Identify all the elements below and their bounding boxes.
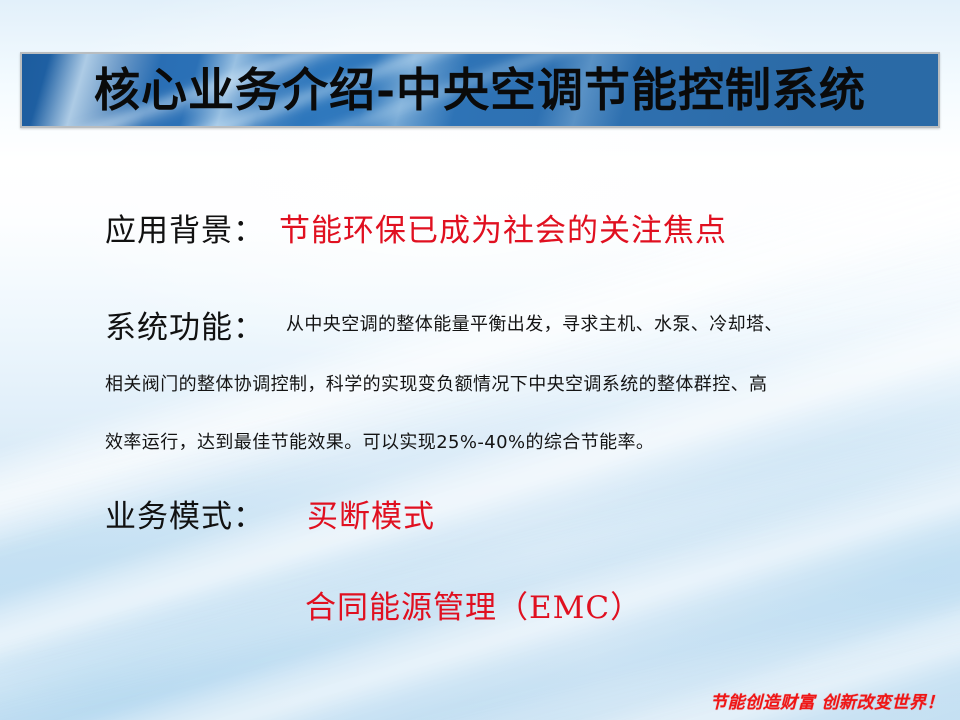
system-function-text-line-3: 效率运行，达到最佳节能效果。可以实现25%-40%的综合节能率。 bbox=[105, 432, 654, 453]
system-function-line-1: 从中央空调的整体能量平衡出发，寻求主机、水泵、冷却塔、 bbox=[286, 310, 783, 336]
system-function-text-line-2: 相关阀门的整体协调控制，科学的实现变负额情况下中央空调系统的整体群控、高 bbox=[105, 374, 767, 395]
business-mode-value-emc-row: 合同能源管理（EMC） bbox=[305, 582, 642, 627]
application-background-value: 节能环保已成为社会的关注焦点 bbox=[279, 213, 727, 249]
business-mode-label: 业务模式： bbox=[105, 499, 265, 535]
business-mode-value-emc: 合同能源管理（EMC） bbox=[305, 590, 642, 626]
system-function-line-2: 相关阀门的整体协调控制，科学的实现变负额情况下中央空调系统的整体群控、高 bbox=[105, 370, 767, 396]
footer-slogan: 节能创造财富 创新改变世界！ bbox=[710, 688, 944, 713]
section-system-function-label: 系统功能： bbox=[105, 302, 265, 347]
application-background-label: 应用背景： bbox=[105, 213, 265, 249]
system-function-label: 系统功能： bbox=[105, 310, 265, 346]
system-function-text-line-1: 从中央空调的整体能量平衡出发，寻求主机、水泵、冷却塔、 bbox=[286, 314, 783, 335]
system-function-line-3: 效率运行，达到最佳节能效果。可以实现25%-40%的综合节能率。 bbox=[105, 428, 654, 454]
slide-title-banner: 核心业务介绍-中央空调节能控制系统 bbox=[20, 52, 940, 128]
page-title: 核心业务介绍-中央空调节能控制系统 bbox=[22, 54, 938, 126]
section-application-background: 应用背景：节能环保已成为社会的关注焦点 bbox=[105, 205, 727, 250]
section-business-mode: 业务模式：买断模式 bbox=[105, 491, 435, 536]
business-mode-value-purchase: 买断模式 bbox=[307, 499, 435, 535]
presentation-slide: 核心业务介绍-中央空调节能控制系统 应用背景：节能环保已成为社会的关注焦点 系统… bbox=[0, 0, 960, 720]
